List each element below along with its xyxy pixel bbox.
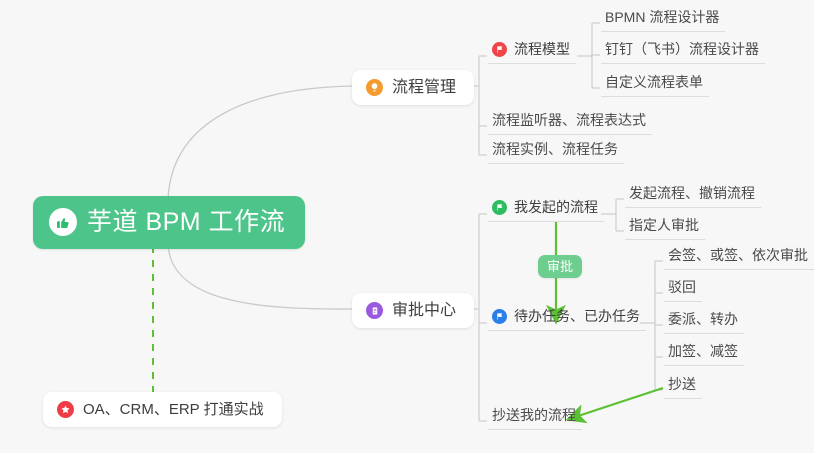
red-flag-icon <box>492 42 507 57</box>
root-label: 芋道 BPM 工作流 <box>87 210 285 235</box>
leaf-cc-to-me-process[interactable]: 抄送我的流程 <box>488 407 582 430</box>
leaf-label-countersign-orsign-sequential: 会签、或签、依次审批 <box>668 247 808 264</box>
leaf-label-process-listener-expression: 流程监听器、流程表达式 <box>492 112 646 129</box>
approval-pill: 审批 <box>538 255 582 278</box>
leaf-process-listener-expression[interactable]: 流程监听器、流程表达式 <box>488 112 652 135</box>
integration-card[interactable]: OA、CRM、ERP 打通实战 <box>43 392 282 427</box>
leaf-assignee-approval[interactable]: 指定人审批 <box>625 217 705 240</box>
purple-doc-icon <box>366 302 383 319</box>
leaf-bpmn-designer[interactable]: BPMN 流程设计器 <box>601 9 725 32</box>
leaf-todo-done-task[interactable]: 待办任务、已办任务 <box>488 308 646 331</box>
leaf-label-custom-process-form: 自定义流程表单 <box>605 74 703 91</box>
leaf-my-initiated-process[interactable]: 我发起的流程 <box>488 199 604 222</box>
leaf-label-add-remove-sign: 加签、减签 <box>668 343 738 360</box>
leaf-label-reject: 驳回 <box>668 279 696 296</box>
leaf-custom-process-form[interactable]: 自定义流程表单 <box>601 74 709 97</box>
branch-node-process-management[interactable]: 流程管理 <box>352 70 474 105</box>
mindmap-canvas: 芋道 BPM 工作流 OA、CRM、ERP 打通实战 流程管理 流程模型 BPM… <box>0 0 814 453</box>
root-node[interactable]: 芋道 BPM 工作流 <box>33 196 305 249</box>
orange-lightbulb-icon <box>366 79 383 96</box>
leaf-add-remove-sign[interactable]: 加签、减签 <box>664 343 744 366</box>
integration-card-label: OA、CRM、ERP 打通实战 <box>83 402 264 417</box>
leaf-dingtalk-feishu-designer[interactable]: 钉钉（飞书）流程设计器 <box>601 41 765 64</box>
branch-label-process-management: 流程管理 <box>392 80 456 96</box>
leaf-label-my-initiated-process: 我发起的流程 <box>514 199 598 216</box>
leaf-delegate-transfer[interactable]: 委派、转办 <box>664 311 744 334</box>
leaf-label-todo-done-task: 待办任务、已办任务 <box>514 308 640 325</box>
leaf-label-process-model: 流程模型 <box>514 41 570 58</box>
leaf-label-bpmn-designer: BPMN 流程设计器 <box>605 9 719 26</box>
leaf-label-delegate-transfer: 委派、转办 <box>668 311 738 328</box>
leaf-label-start-cancel-process: 发起流程、撤销流程 <box>629 185 755 202</box>
leaf-reject[interactable]: 驳回 <box>664 279 702 302</box>
leaf-label-dingtalk-feishu-designer: 钉钉（飞书）流程设计器 <box>605 41 759 58</box>
leaf-cc[interactable]: 抄送 <box>664 376 702 399</box>
leaf-start-cancel-process[interactable]: 发起流程、撤销流程 <box>625 185 761 208</box>
branch-node-approval-center[interactable]: 审批中心 <box>352 293 474 328</box>
blue-flag-icon <box>492 309 507 324</box>
leaf-process-model[interactable]: 流程模型 <box>488 41 576 64</box>
branch-label-approval-center: 审批中心 <box>392 303 456 319</box>
green-flag-icon <box>492 200 507 215</box>
leaf-process-instance-task[interactable]: 流程实例、流程任务 <box>488 141 624 164</box>
leaf-label-assignee-approval: 指定人审批 <box>629 217 699 234</box>
leaf-label-cc-to-me-process: 抄送我的流程 <box>492 407 576 424</box>
leaf-countersign-orsign-sequential[interactable]: 会签、或签、依次审批 <box>664 247 814 270</box>
leaf-label-process-instance-task: 流程实例、流程任务 <box>492 141 618 158</box>
red-star-icon <box>57 401 74 418</box>
thumbs-up-icon <box>49 208 77 236</box>
leaf-label-cc: 抄送 <box>668 376 696 393</box>
